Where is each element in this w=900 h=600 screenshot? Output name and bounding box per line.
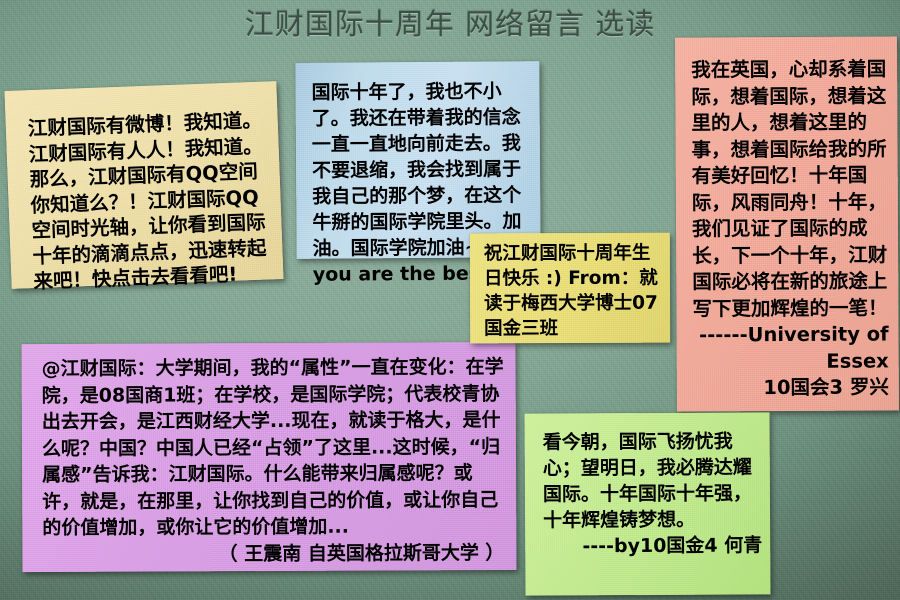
sticky-note-green-text: 看今朝，国际飞扬忧我心；望明日，我必腾达耀国际。十年国际十年强，十年辉煌铸梦想。 <box>543 428 763 533</box>
sticky-note-blue[interactable]: 国际十年了，我也不小了。我还在带着我的信念一直一直地向前走去。我不要退缩，我会找… <box>295 61 540 259</box>
sticky-note-pink[interactable]: 我在英国，心却系着国际，想着国际，想着这里的人，想着这里的事，想着国际给我的所有… <box>675 36 899 411</box>
sticky-note-yellow-text: 江财国际有微博！我知道。江财国际有人人！我知道。那么，江财国际有QQ空间你知道么… <box>27 108 269 295</box>
sticky-note-purple[interactable]: @江财国际：大学期间，我的“属性”一直在变化：在学院，是08国商1班；在学校，是… <box>22 342 517 572</box>
sticky-note-pink-signature-line1: ------University of <box>693 321 889 349</box>
sticky-note-purple-text: @江财国际：大学期间，我的“属性”一直在变化：在学院，是08国商1班；在学校，是… <box>42 354 505 542</box>
sticky-note-pink-text: 我在英国，心却系着国际，想着国际，想着这里的人，想着这里的事，想着国际给我的所有… <box>691 56 888 322</box>
sticky-note-pink-signature-line2: Essex <box>693 348 889 376</box>
sticky-note-green-signature: ----by10国金4 何青 <box>543 532 762 559</box>
sticky-note-pink-signature-line3: 10国会3 罗兴 <box>693 374 889 402</box>
sticky-note-cream[interactable]: 祝江财国际十周年生日快乐 :) From：就读于梅西大学博士07国金三班 <box>470 233 670 344</box>
sticky-note-cream-text: 祝江财国际十周年生日快乐 :) From：就读于梅西大学博士07国金三班 <box>484 241 662 342</box>
sticky-note-green[interactable]: 看今朝，国际飞扬忧我心；望明日，我必腾达耀国际。十年国际十年强，十年辉煌铸梦想。… <box>525 412 771 595</box>
sticky-note-yellow[interactable]: 江财国际有微博！我知道。江财国际有人人！我知道。那么，江财国际有QQ空间你知道么… <box>4 81 283 289</box>
sticky-note-purple-signature: （ 王震南 自英国格拉斯哥大学 ） <box>42 539 504 568</box>
slide-canvas: 江财国际十周年 网络留言 选读 江财国际有微博！我知道。江财国际有人人！我知道。… <box>0 0 900 600</box>
page-title: 江财国际十周年 网络留言 选读 <box>0 6 900 42</box>
